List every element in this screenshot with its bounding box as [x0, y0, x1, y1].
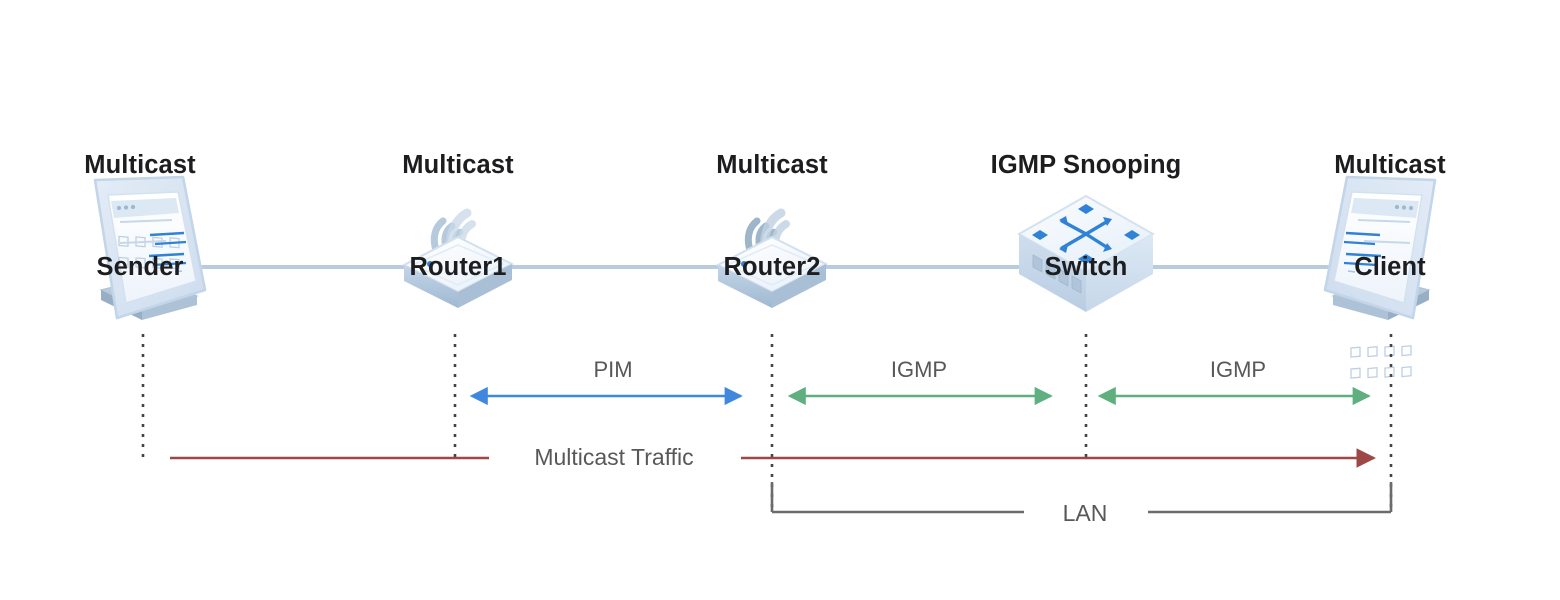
node-label-multicast-client: Multicast Client: [1250, 80, 1530, 352]
node-label-multicast-router2: Multicast Router2: [632, 80, 912, 352]
node-label-igmp-snooping-switch: IGMP Snooping Switch: [946, 80, 1226, 352]
multicast-traffic-label: Multicast Traffic: [464, 444, 764, 471]
node-label-line2: Switch: [946, 250, 1226, 284]
igmp-arrow-label-switch-client: IGMP: [1138, 357, 1338, 383]
network-diagram: Multicast Sender Multicast Router1 Multi…: [0, 0, 1560, 600]
node-label-line1: Multicast: [632, 148, 912, 182]
node-label-line1: IGMP Snooping: [946, 148, 1226, 182]
igmp-arrow-label-router2-switch: IGMP: [819, 357, 1019, 383]
pim-arrow-label: PIM: [513, 357, 713, 383]
node-label-multicast-router1: Multicast Router1: [318, 80, 598, 352]
node-label-line2: Router2: [632, 250, 912, 284]
node-label-multicast-sender: Multicast Sender: [0, 80, 280, 352]
node-label-line2: Client: [1250, 250, 1530, 284]
node-label-line2: Sender: [0, 250, 280, 284]
node-label-line1: Multicast: [318, 148, 598, 182]
lan-bracket-label: LAN: [1035, 500, 1135, 527]
node-label-line1: Multicast: [0, 148, 280, 182]
node-label-line2: Router1: [318, 250, 598, 284]
node-label-line1: Multicast: [1250, 148, 1530, 182]
